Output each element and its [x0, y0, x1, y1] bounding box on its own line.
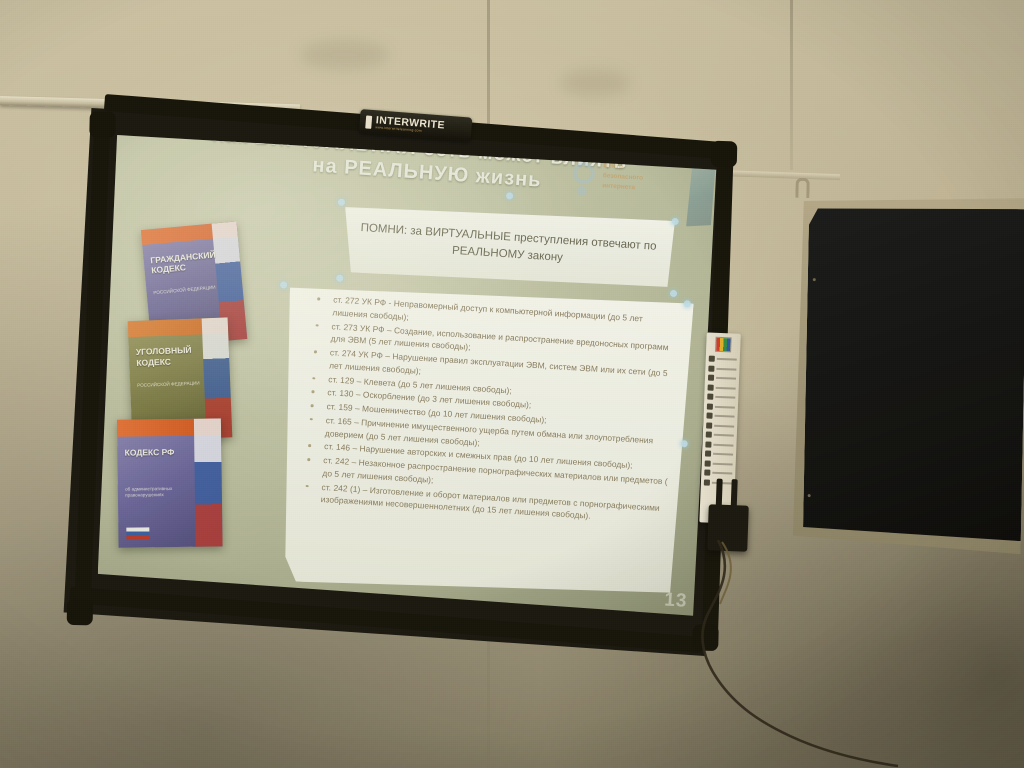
- selection-handle[interactable]: [280, 281, 287, 288]
- book-title: ГРАЖДАНСКИЙ КОДЕКС: [150, 249, 222, 276]
- content-panel[interactable]: ст. 272 УК РФ - Неправомерный доступ к к…: [272, 279, 694, 605]
- projected-screen[interactable]: Как ВИРТУАЛЬНАЯ сеть может влиять на РЕА…: [97, 128, 719, 621]
- book-flag-icon: [127, 527, 150, 540]
- stylus-pen[interactable]: [716, 479, 723, 511]
- selection-handle[interactable]: [684, 300, 691, 307]
- toolbar-item[interactable]: [703, 412, 737, 419]
- logo-ring-icon: [572, 161, 595, 184]
- toolbar-item[interactable]: [704, 393, 738, 400]
- toolbar-item[interactable]: [701, 469, 735, 476]
- selection-handle[interactable]: [681, 440, 688, 447]
- toolbar-item[interactable]: [704, 403, 738, 410]
- toolbar-item[interactable]: [702, 441, 736, 448]
- blackboard: [793, 194, 1024, 554]
- toolbar-item[interactable]: [705, 384, 739, 391]
- blackboard-surface: [803, 205, 1024, 541]
- toolbar-item[interactable]: [702, 450, 736, 457]
- tool-icon: [704, 479, 710, 485]
- power-cable: [640, 540, 940, 768]
- tool-icon: [707, 394, 713, 400]
- callout-box[interactable]: ПОМНИ: за ВИРТУАЛЬНЫЕ преступления отвеч…: [341, 200, 675, 293]
- frame-corner: [67, 599, 94, 626]
- tool-icon: [708, 384, 714, 390]
- wall-blemish: [300, 40, 390, 70]
- selection-handle[interactable]: [671, 218, 678, 225]
- book-title: КОДЕКС РФ: [125, 447, 201, 458]
- tool-icon: [705, 441, 711, 447]
- toolbar-item[interactable]: [705, 365, 739, 372]
- tool-icon: [708, 375, 714, 381]
- toolbar-item[interactable]: [706, 355, 740, 362]
- wall-blemish: [560, 70, 630, 96]
- interactive-whiteboard[interactable]: INTERWRITE www.interwritelearning.com Ка…: [56, 105, 740, 660]
- logo-dot-icon: [577, 186, 588, 197]
- tool-icon: [704, 469, 710, 475]
- frame-corner: [711, 141, 738, 168]
- book-subtitle: об административных правонарушениях: [125, 485, 199, 498]
- toolbar-item[interactable]: [703, 422, 737, 429]
- interwrite-mark-icon: [365, 115, 372, 128]
- book-subtitle: РОССИЙСКОЙ ФЕДЕРАЦИИ: [137, 381, 208, 390]
- tool-icon: [706, 412, 712, 418]
- article-list: ст. 272 УК РФ - Неправомерный доступ к к…: [286, 291, 678, 527]
- selection-handle[interactable]: [506, 192, 513, 199]
- tool-icon: [706, 422, 712, 428]
- tool-icon: [706, 431, 712, 437]
- screw-icon: [808, 494, 811, 497]
- book-cover-administrative-code: КОДЕКС РФ об административных правонаруш…: [117, 418, 223, 547]
- color-palette-icon[interactable]: [715, 337, 732, 353]
- toolbar-item[interactable]: [703, 431, 737, 438]
- callout-text: ПОМНИ: за ВИРТУАЛЬНЫЕ преступления отвеч…: [342, 219, 673, 273]
- selection-handle[interactable]: [336, 275, 343, 282]
- selection-handle[interactable]: [338, 199, 345, 206]
- book-flag-band: [194, 418, 223, 546]
- screw-icon: [813, 278, 816, 281]
- classroom-photo: INTERWRITE www.interwritelearning.com Ка…: [0, 0, 1024, 768]
- tool-icon: [708, 365, 714, 371]
- frame-corner: [89, 111, 116, 138]
- toolbar-item[interactable]: [702, 460, 736, 467]
- wall-seam: [790, 0, 793, 170]
- blackboard-hanger-icon: [795, 178, 809, 198]
- stylus-pen[interactable]: [731, 479, 738, 511]
- book-subtitle: РОССИЙСКОЙ ФЕДЕРАЦИИ: [153, 284, 221, 296]
- tool-icon: [709, 356, 715, 362]
- selection-handle[interactable]: [670, 290, 677, 297]
- tool-icon: [707, 403, 713, 409]
- tool-icon: [705, 450, 711, 456]
- book-title: УГОЛОВНЫЙ КОДЕКС: [136, 344, 210, 367]
- tool-icon: [705, 460, 711, 466]
- presentation-slide: Как ВИРТУАЛЬНАЯ сеть может влиять на РЕА…: [97, 128, 719, 621]
- toolbar-item[interactable]: [705, 374, 739, 381]
